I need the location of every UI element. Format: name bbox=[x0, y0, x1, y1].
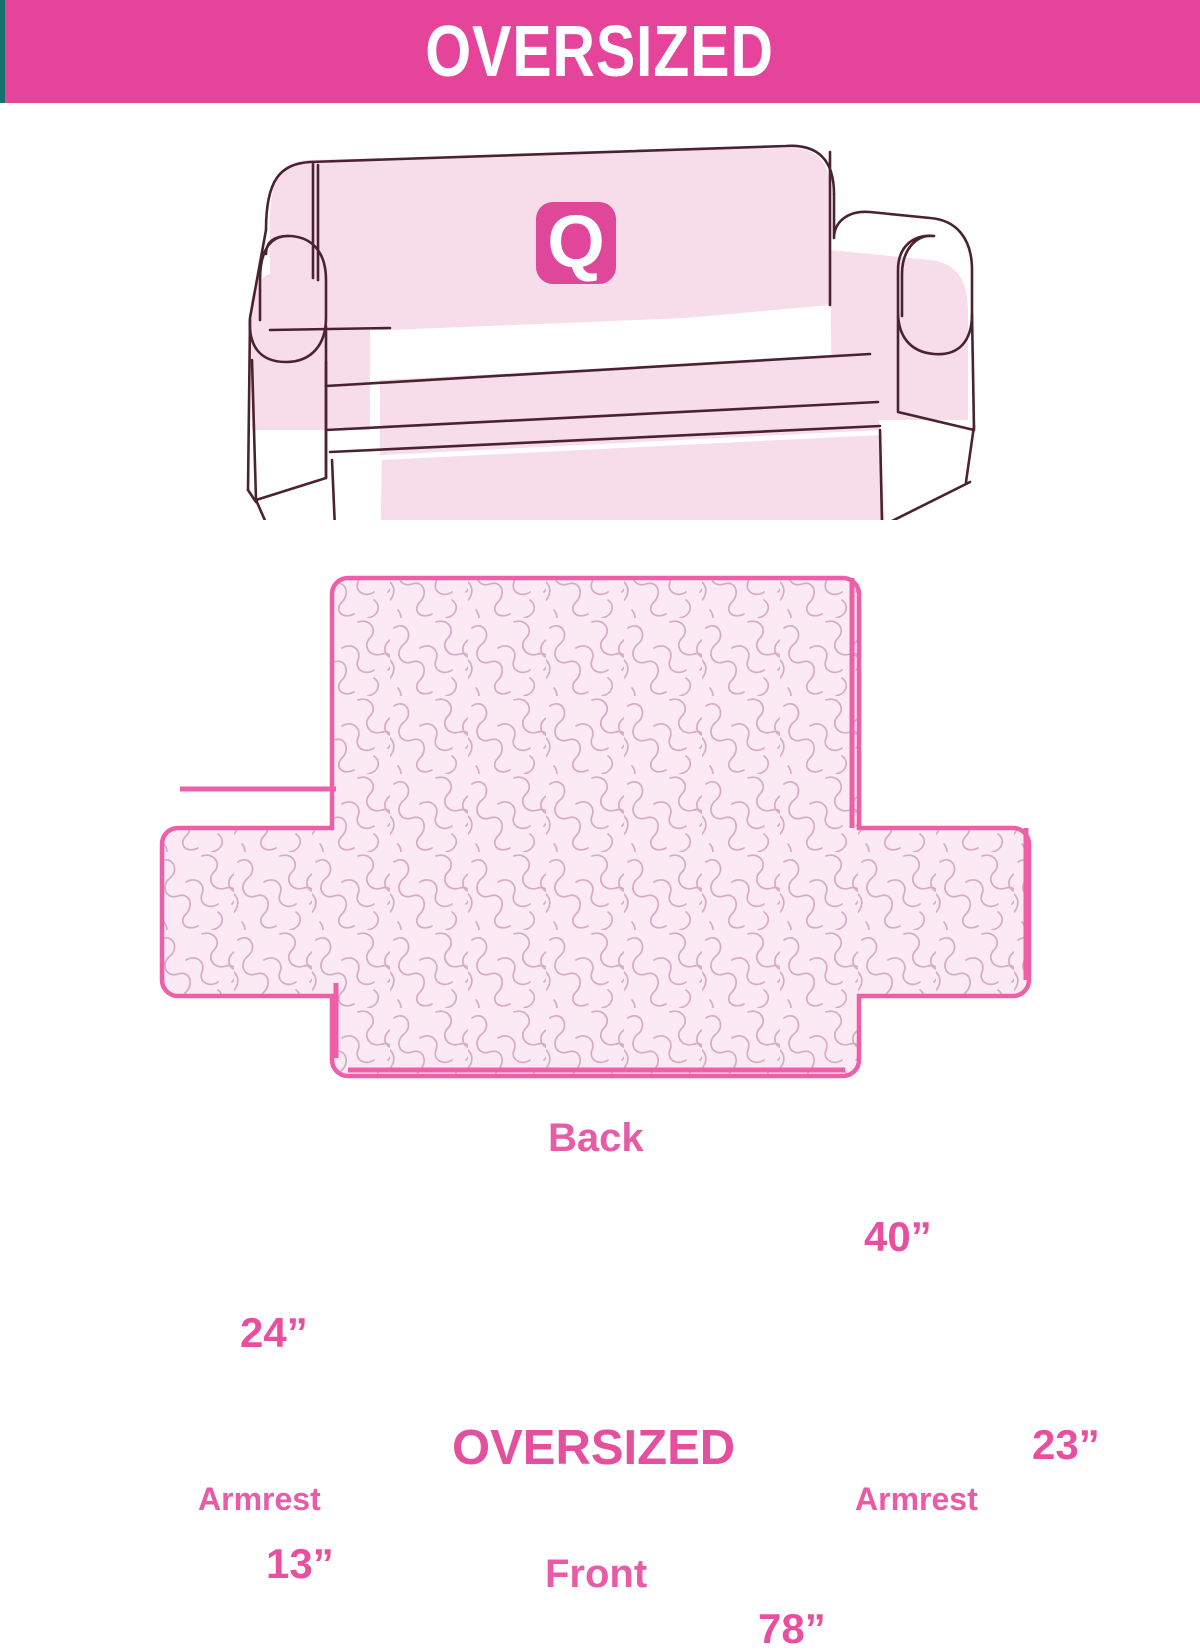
panel-label-armrest-left: Armrest bbox=[198, 1483, 321, 1515]
panel-label-front: Front bbox=[545, 1554, 647, 1594]
banner-title: OVERSIZED bbox=[426, 16, 775, 88]
dimension-label-armrest-width: 24” bbox=[240, 1312, 308, 1354]
brand-logo-badge: Q bbox=[536, 202, 616, 284]
sofa-line-drawing bbox=[230, 130, 990, 520]
flat-layout-diagram: Back Front Armrest Armrest OVERSIZED 40”… bbox=[0, 540, 1200, 1140]
brand-logo-letter: Q bbox=[547, 205, 605, 279]
sofa-illustration: Q bbox=[230, 130, 990, 520]
infographic-canvas: OVERSIZED bbox=[0, 0, 1200, 1200]
cross-shape-diagram bbox=[0, 540, 1200, 1140]
panel-label-back: Back bbox=[548, 1118, 644, 1158]
cover-cross-shape bbox=[160, 570, 1060, 1130]
panel-label-armrest-right: Armrest bbox=[855, 1483, 978, 1515]
diagram-center-title: OVERSIZED bbox=[452, 1424, 735, 1473]
dimension-label-armrest-height: 23” bbox=[1032, 1424, 1100, 1466]
header-banner: OVERSIZED bbox=[0, 0, 1200, 103]
dimension-label-front-height: 13” bbox=[266, 1543, 334, 1585]
dimension-label-total-width: 78” bbox=[758, 1608, 826, 1650]
banner-left-accent-stripe bbox=[0, 0, 5, 103]
dimension-label-back-height: 40” bbox=[864, 1216, 932, 1258]
